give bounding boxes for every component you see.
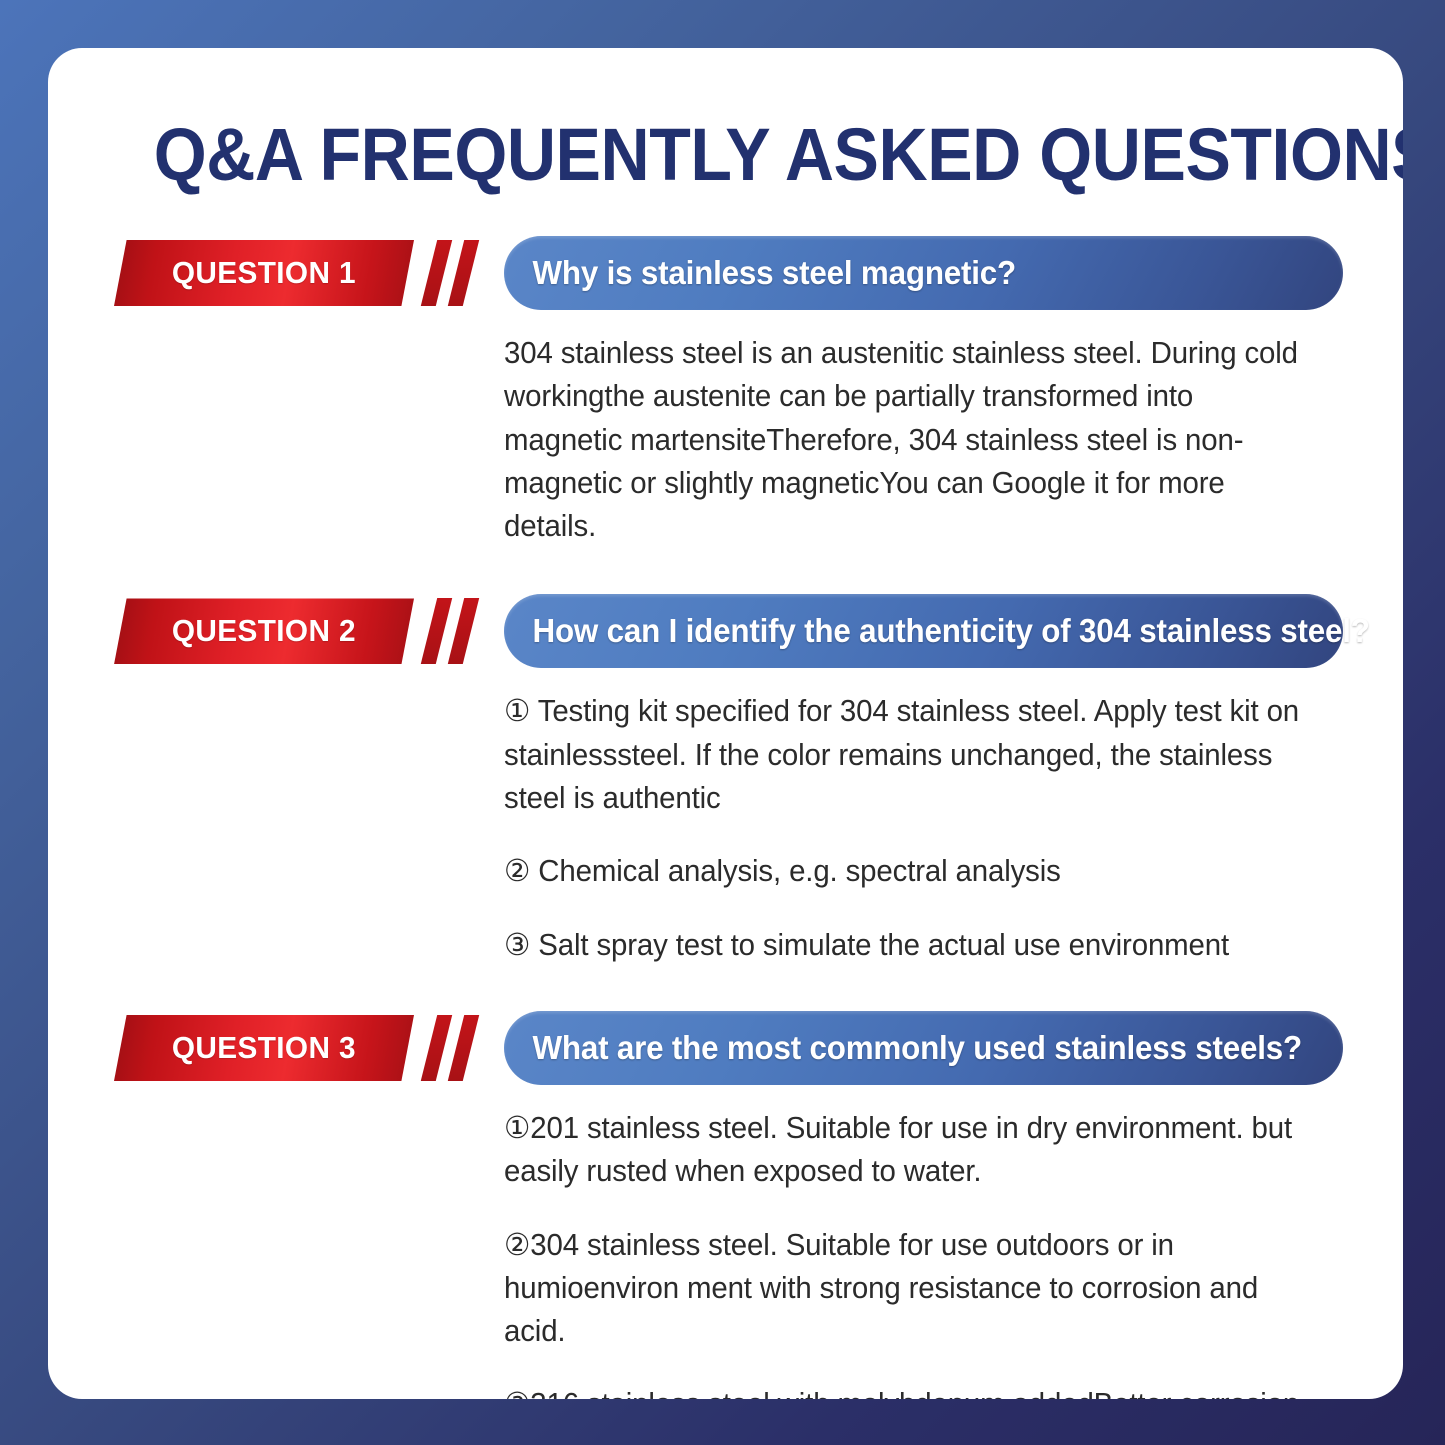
- question-banner-3: QUESTION 3 What are the most commonly us…: [104, 1011, 1347, 1085]
- question-banner-2: QUESTION 2 How can I identify the authen…: [104, 594, 1347, 668]
- faq-item-2: QUESTION 2 How can I identify the authen…: [104, 594, 1347, 966]
- slash-separator-icon: [448, 1015, 479, 1081]
- faq-item-1: QUESTION 1 Why is stainless steel magnet…: [104, 236, 1347, 548]
- question-tag-1[interactable]: QUESTION 1: [114, 240, 414, 306]
- answer-3: ①201 stainless steel. Suitable for use i…: [504, 1085, 1347, 1399]
- question-tag-2[interactable]: QUESTION 2: [114, 598, 414, 664]
- answer-paragraph: ①201 stainless steel. Suitable for use i…: [504, 1107, 1304, 1194]
- question-pill-2[interactable]: How can I identify the authenticity of 3…: [504, 594, 1343, 668]
- question-text-3: What are the most commonly used stainles…: [504, 1029, 1302, 1067]
- slash-separator-icon: [448, 240, 479, 306]
- question-pill-3[interactable]: What are the most commonly used stainles…: [504, 1011, 1343, 1085]
- faq-card: Q&A FREQUENTLY ASKED QUESTIONS QUESTION …: [48, 48, 1403, 1399]
- answer-paragraph: ① Testing kit specified for 304 stainles…: [504, 690, 1304, 820]
- faq-item-3: QUESTION 3 What are the most commonly us…: [104, 1011, 1347, 1399]
- question-pill-1[interactable]: Why is stainless steel magnetic?: [504, 236, 1343, 310]
- question-tag-3[interactable]: QUESTION 3: [114, 1015, 414, 1081]
- slash-separator-icon: [421, 240, 452, 306]
- answer-paragraph: ②304 stainless steel. Suitable for use o…: [504, 1224, 1304, 1354]
- answer-1: 304 stainless steel is an austenitic sta…: [504, 310, 1347, 548]
- answer-paragraph: 304 stainless steel is an austenitic sta…: [504, 332, 1304, 548]
- question-tag-label-2: QUESTION 2: [172, 613, 356, 649]
- page-title: Q&A FREQUENTLY ASKED QUESTIONS: [154, 118, 1298, 192]
- answer-paragraph: ③ Salt spray test to simulate the actual…: [504, 924, 1304, 967]
- slash-separator-icon: [421, 598, 452, 664]
- question-text-1: Why is stainless steel magnetic?: [504, 254, 1016, 292]
- question-text-2: How can I identify the authenticity of 3…: [504, 612, 1370, 650]
- faq-page: Q&A FREQUENTLY ASKED QUESTIONS QUESTION …: [0, 0, 1445, 1445]
- answer-paragraph: ② Chemical analysis, e.g. spectral analy…: [504, 850, 1304, 893]
- question-tag-label-1: QUESTION 1: [172, 255, 356, 291]
- answer-paragraph: ③316 stainless steel with molybdenum add…: [504, 1383, 1304, 1399]
- slash-separator-icon: [448, 598, 479, 664]
- slash-separator-icon: [421, 1015, 452, 1081]
- question-tag-label-3: QUESTION 3: [172, 1030, 356, 1066]
- answer-2: ① Testing kit specified for 304 stainles…: [504, 668, 1347, 966]
- question-banner-1: QUESTION 1 Why is stainless steel magnet…: [104, 236, 1347, 310]
